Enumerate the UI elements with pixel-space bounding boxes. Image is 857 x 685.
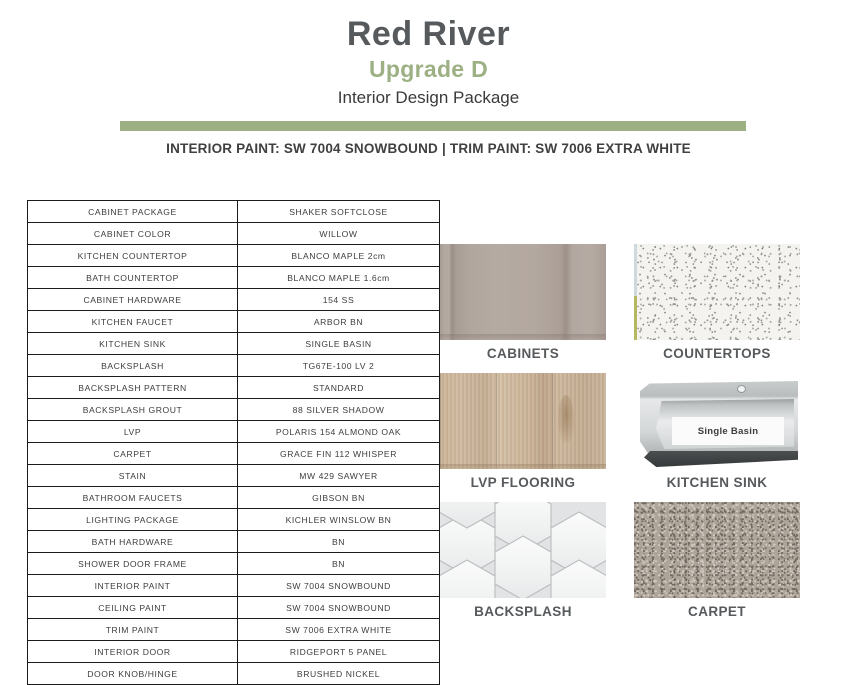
spec-value: 88 SILVER SHADOW xyxy=(238,399,440,421)
spec-label: TRIM PAINT xyxy=(28,619,238,641)
spec-label: CABINET PACKAGE xyxy=(28,201,238,223)
spec-label: LIGHTING PACKAGE xyxy=(28,509,238,531)
swatch-caption: CARPET xyxy=(634,604,800,619)
countertop-edge-green xyxy=(634,296,637,340)
spec-value: BLANCO MAPLE 1.6cm xyxy=(238,267,440,289)
swatch-row: LVP FLOORING Single Basin KITCHEN SINK xyxy=(440,373,800,490)
table-row: CARPETGRACE FIN 112 WHISPER xyxy=(28,443,440,465)
sink-overlay-text: Single Basin xyxy=(698,426,759,437)
carpet-swatch xyxy=(634,502,800,598)
spec-value: 154 SS xyxy=(238,289,440,311)
spec-value: BLANCO MAPLE 2cm xyxy=(238,245,440,267)
table-row: KITCHEN FAUCETARBOR BN xyxy=(28,311,440,333)
accent-divider-bar xyxy=(120,121,746,131)
spec-value: SHAKER SOFTCLOSE xyxy=(238,201,440,223)
spec-label: CABINET COLOR xyxy=(28,223,238,245)
faucet-hole-icon xyxy=(738,386,745,392)
table-row: BACKSPLASH PATTERNSTANDARD xyxy=(28,377,440,399)
table-row: BATHROOM FAUCETSGIBSON BN xyxy=(28,487,440,509)
package-subtitle: Interior Design Package xyxy=(0,87,857,109)
hexagon-tile-pattern-icon xyxy=(440,502,606,598)
table-row: INTERIOR PAINTSW 7004 SNOWBOUND xyxy=(28,575,440,597)
table-row: DOOR KNOB/HINGEBRUSHED NICKEL xyxy=(28,663,440,685)
table-row: BATH HARDWAREBN xyxy=(28,531,440,553)
spec-label: KITCHEN FAUCET xyxy=(28,311,238,333)
material-swatch-grid: CABINETS COUNTERTOPS LVP FLOORING xyxy=(440,244,800,631)
spec-label: LVP xyxy=(28,421,238,443)
spec-label: BACKSPLASH PATTERN xyxy=(28,377,238,399)
spec-label: CARPET xyxy=(28,443,238,465)
swatch-caption: CABINETS xyxy=(440,346,606,361)
cabinets-swatch xyxy=(440,244,606,340)
spec-label: KITCHEN SINK xyxy=(28,333,238,355)
spec-value: RIDGEPORT 5 PANEL xyxy=(238,641,440,663)
table-row: CABINET PACKAGESHAKER SOFTCLOSE xyxy=(28,201,440,223)
table-row: CEILING PAINTSW 7004 SNOWBOUND xyxy=(28,597,440,619)
swatch-caption: BACKSPLASH xyxy=(440,604,606,619)
page-title: Red River xyxy=(0,16,857,53)
spec-value: GIBSON BN xyxy=(238,487,440,509)
swatch-cell-carpet: CARPET xyxy=(634,502,800,619)
sink-front-rim xyxy=(644,451,798,467)
spec-value: SW 7004 SNOWBOUND xyxy=(238,575,440,597)
spec-value: MW 429 SAWYER xyxy=(238,465,440,487)
swatch-cell-countertops: COUNTERTOPS xyxy=(634,244,800,361)
spec-label: BACKSPLASH xyxy=(28,355,238,377)
swatch-caption: LVP FLOORING xyxy=(440,475,606,490)
swatch-cell-cabinets: CABINETS xyxy=(440,244,606,361)
spec-value: STANDARD xyxy=(238,377,440,399)
swatch-cell-backsplash: BACKSPLASH xyxy=(440,502,606,619)
spec-value: POLARIS 154 ALMOND OAK xyxy=(238,421,440,443)
spec-label: BACKSPLASH GROUT xyxy=(28,399,238,421)
wood-knot xyxy=(558,395,574,443)
spec-label: CEILING PAINT xyxy=(28,597,238,619)
spec-value: ARBOR BN xyxy=(238,311,440,333)
countertops-swatch xyxy=(634,244,800,340)
table-row: LIGHTING PACKAGEKICHLER WINSLOW BN xyxy=(28,509,440,531)
sink-overlay-label: Single Basin xyxy=(672,417,784,445)
spec-label: BATH HARDWARE xyxy=(28,531,238,553)
spec-value: BRUSHED NICKEL xyxy=(238,663,440,685)
spec-label: STAIN xyxy=(28,465,238,487)
spec-value: SW 7004 SNOWBOUND xyxy=(238,597,440,619)
table-row: BACKSPLASHTG67E-100 LV 2 xyxy=(28,355,440,377)
spec-label: BATHROOM FAUCETS xyxy=(28,487,238,509)
table-row: TRIM PAINTSW 7006 EXTRA WHITE xyxy=(28,619,440,641)
table-row: INTERIOR DOORRIDGEPORT 5 PANEL xyxy=(28,641,440,663)
spec-label: INTERIOR DOOR xyxy=(28,641,238,663)
swatch-row: BACKSPLASH CARPET xyxy=(440,502,800,619)
countertop-edge-blue xyxy=(634,244,637,296)
spec-value: KICHLER WINSLOW BN xyxy=(238,509,440,531)
spec-label: KITCHEN COUNTERTOP xyxy=(28,245,238,267)
plank-seam xyxy=(440,464,606,469)
table-row: STAINMW 429 SAWYER xyxy=(28,465,440,487)
page-header: Red River Upgrade D Interior Design Pack… xyxy=(0,0,857,109)
backsplash-swatch xyxy=(440,502,606,598)
swatch-caption: KITCHEN SINK xyxy=(634,475,800,490)
table-row: BACKSPLASH GROUT88 SILVER SHADOW xyxy=(28,399,440,421)
spec-value: SW 7006 EXTRA WHITE xyxy=(238,619,440,641)
table-row: CABINET COLORWILLOW xyxy=(28,223,440,245)
upgrade-label: Upgrade D xyxy=(0,55,857,84)
spec-value: BN xyxy=(238,531,440,553)
spec-label: INTERIOR PAINT xyxy=(28,575,238,597)
spec-value: TG67E-100 LV 2 xyxy=(238,355,440,377)
spec-label: CABINET HARDWARE xyxy=(28,289,238,311)
kitchen-sink-swatch: Single Basin xyxy=(634,373,800,469)
swatch-cell-kitchen-sink: Single Basin KITCHEN SINK xyxy=(634,373,800,490)
spec-label: BATH COUNTERTOP xyxy=(28,267,238,289)
specification-table: CABINET PACKAGESHAKER SOFTCLOSE CABINET … xyxy=(27,200,440,685)
table-row: CABINET HARDWARE154 SS xyxy=(28,289,440,311)
spec-value: SINGLE BASIN xyxy=(238,333,440,355)
table-row: KITCHEN COUNTERTOPBLANCO MAPLE 2cm xyxy=(28,245,440,267)
lvp-flooring-swatch xyxy=(440,373,606,469)
swatch-row: CABINETS COUNTERTOPS xyxy=(440,244,800,361)
spec-value: BN xyxy=(238,553,440,575)
spec-value: WILLOW xyxy=(238,223,440,245)
swatch-cell-lvp-flooring: LVP FLOORING xyxy=(440,373,606,490)
spec-label: SHOWER DOOR FRAME xyxy=(28,553,238,575)
swatch-caption: COUNTERTOPS xyxy=(634,346,800,361)
paint-spec-line: INTERIOR PAINT: SW 7004 SNOWBOUND | TRIM… xyxy=(0,141,857,156)
specification-table-body: CABINET PACKAGESHAKER SOFTCLOSE CABINET … xyxy=(28,201,440,685)
spec-label: DOOR KNOB/HINGE xyxy=(28,663,238,685)
table-row: KITCHEN SINKSINGLE BASIN xyxy=(28,333,440,355)
table-row: BATH COUNTERTOPBLANCO MAPLE 1.6cm xyxy=(28,267,440,289)
table-row: LVPPOLARIS 154 ALMOND OAK xyxy=(28,421,440,443)
table-row: SHOWER DOOR FRAMEBN xyxy=(28,553,440,575)
spec-value: GRACE FIN 112 WHISPER xyxy=(238,443,440,465)
